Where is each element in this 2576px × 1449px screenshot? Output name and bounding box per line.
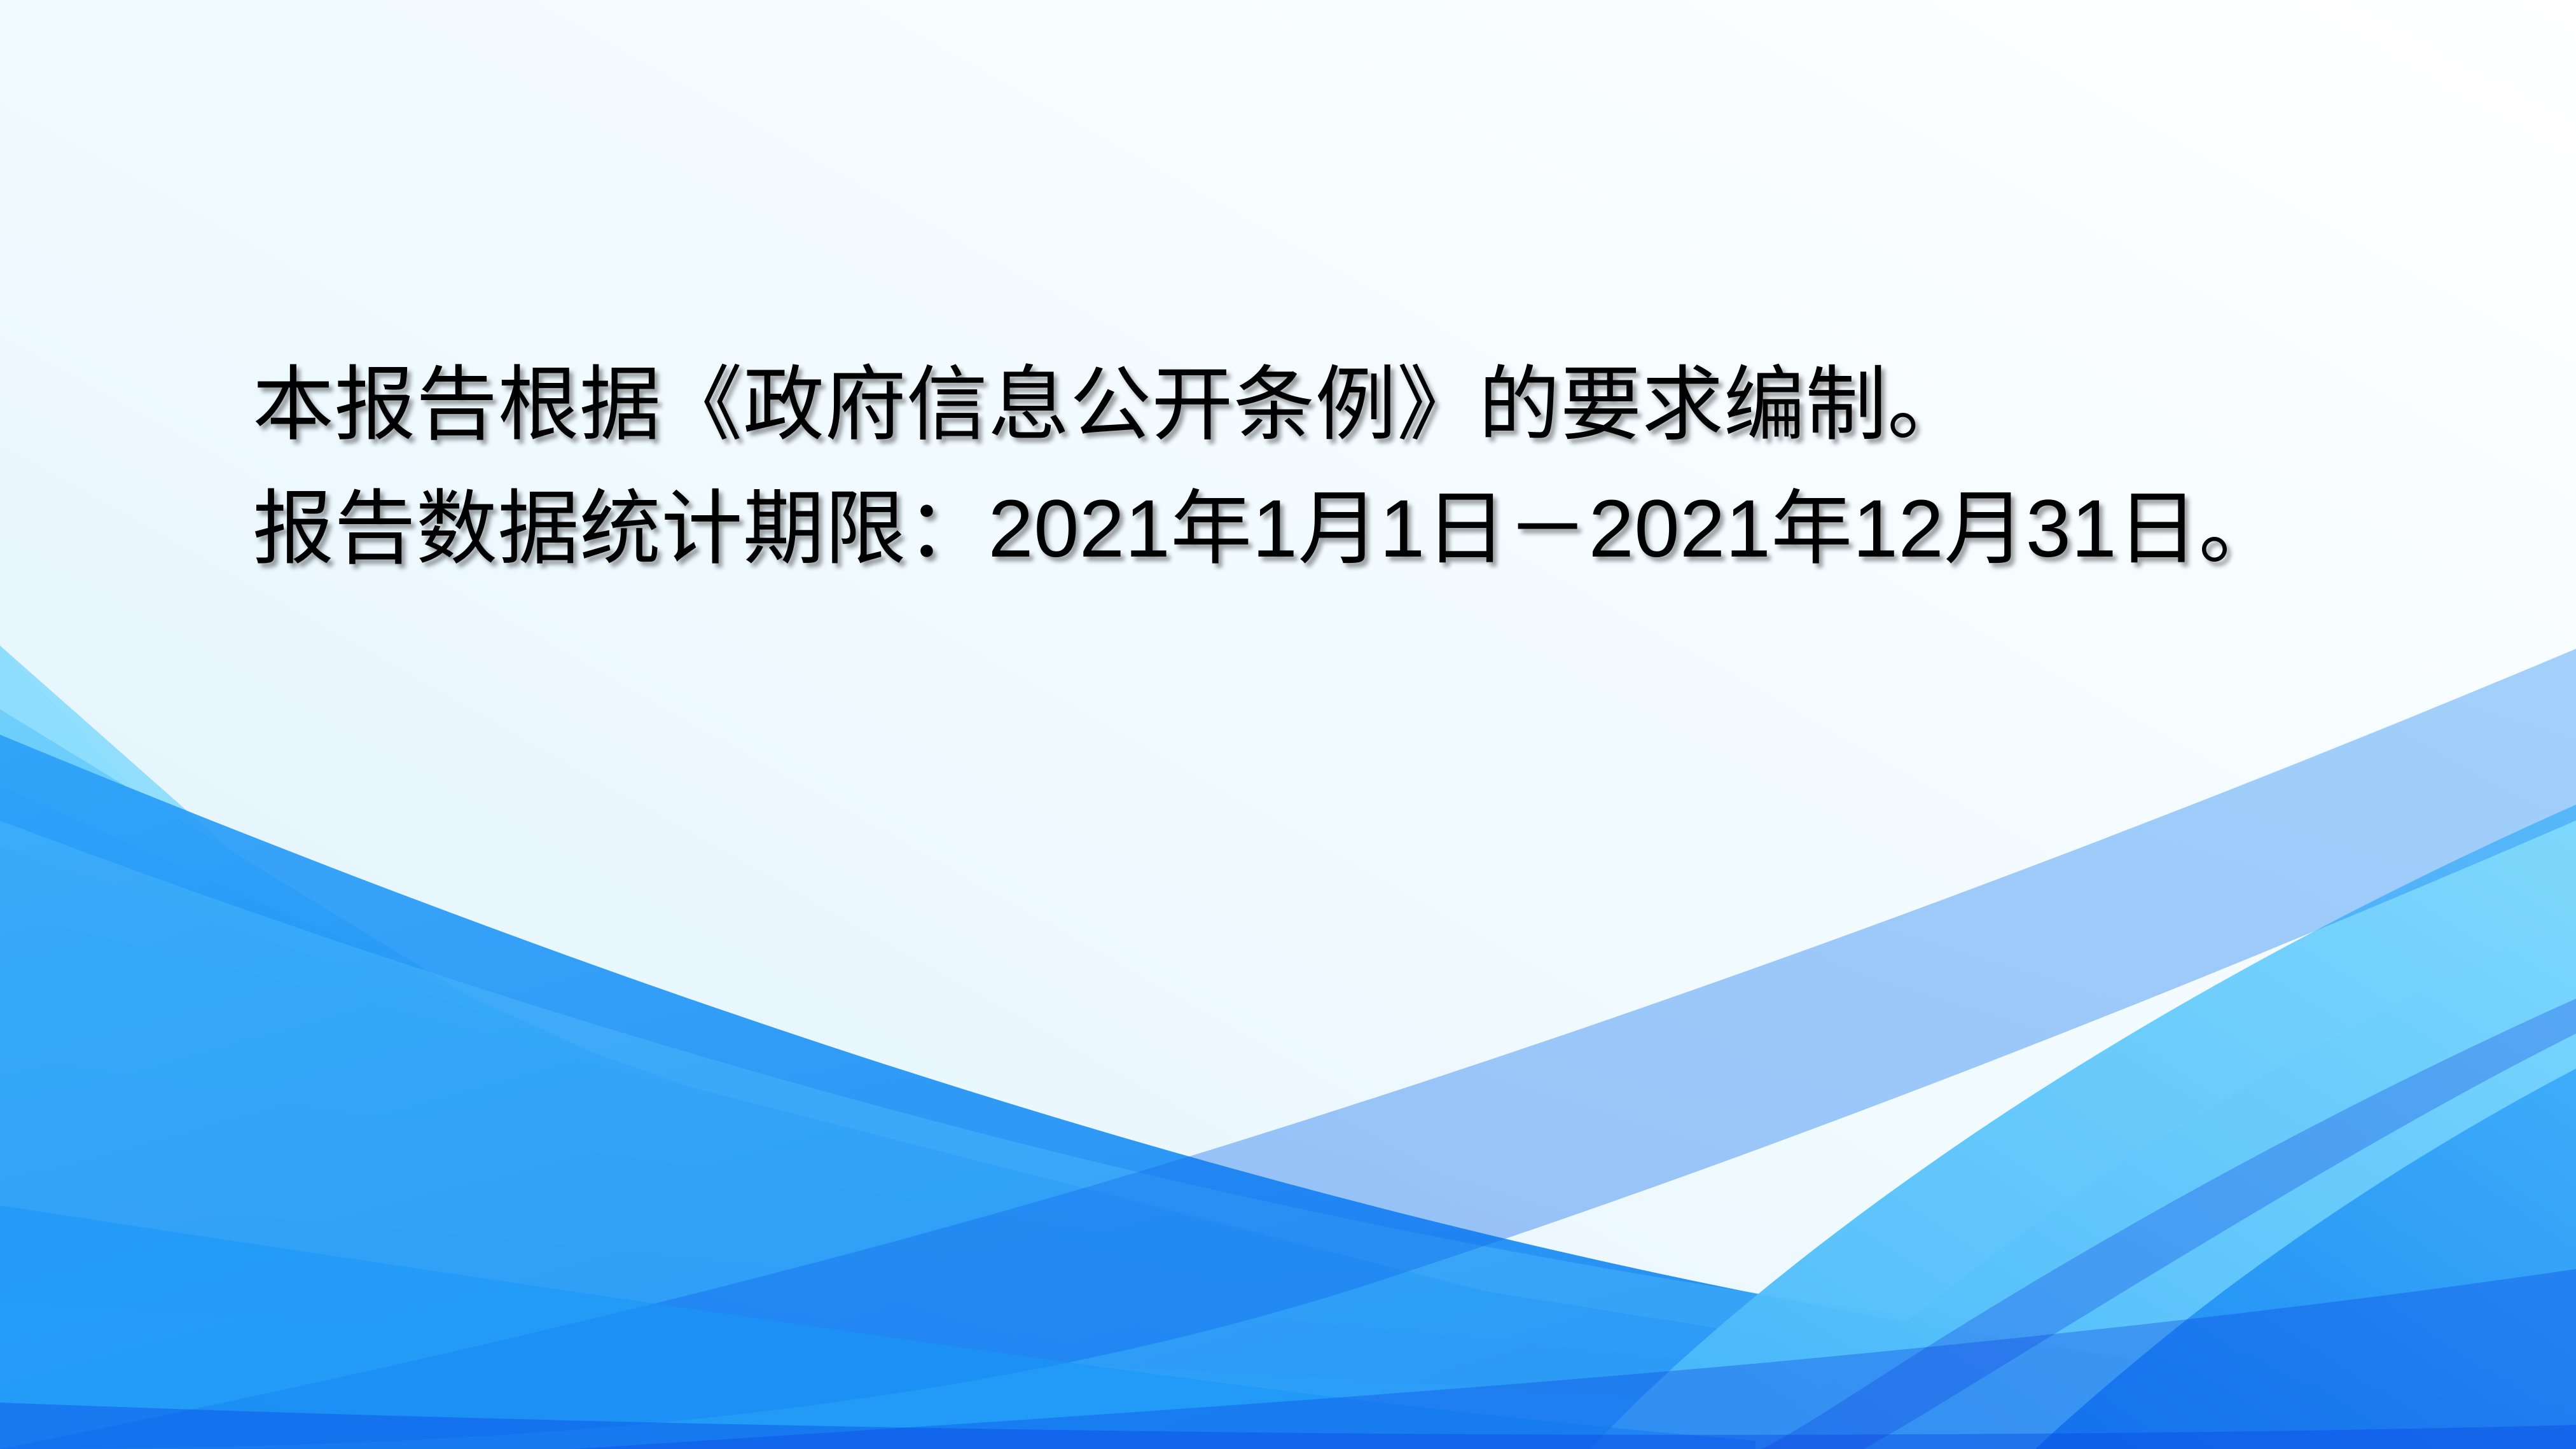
body-line-2: 报告数据统计期限：2021年1月1日－2021年12月31日。 — [89, 468, 2468, 592]
presentation-slide: 本报告根据《政府信息公开条例》的要求编制。 报告数据统计期限：2021年1月1日… — [0, 0, 2576, 1449]
body-line-1: 本报告根据《政府信息公开条例》的要求编制。 — [89, 343, 2468, 468]
slide-body-text: 本报告根据《政府信息公开条例》的要求编制。 报告数据统计期限：2021年1月1日… — [89, 343, 2468, 591]
background-wave-artwork — [0, 0, 2576, 1449]
